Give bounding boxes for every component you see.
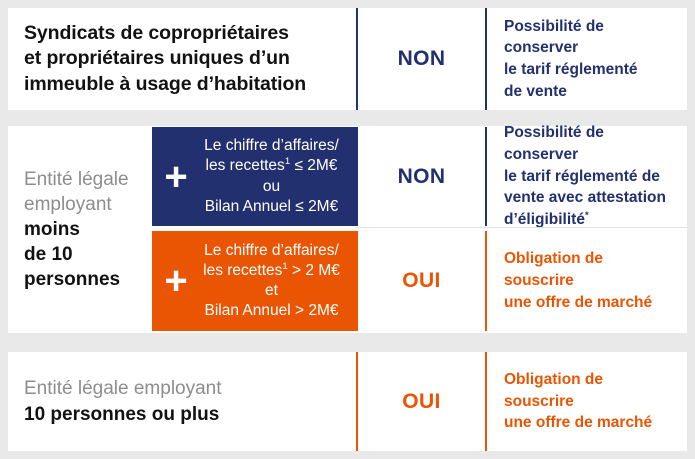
table-row: Syndicats de copropriétaires et propriét…: [8, 8, 687, 110]
table-row: Entité légale employant 10 personnes ou …: [8, 352, 687, 451]
answer-badge: NON: [398, 47, 446, 71]
criteria-line-5: personnes: [24, 267, 154, 292]
criteria-line-1: Entité légale: [24, 167, 154, 192]
plus-icon: +: [159, 163, 193, 191]
condition-line-1: Le chiffre d’affaires/: [193, 136, 350, 156]
consequence-line-4-a: d’éligibilité: [504, 211, 585, 228]
consequence-line-3: de vente: [504, 81, 677, 103]
condition-line-2: les recettes1 > 2 M€: [193, 261, 350, 281]
condition-line-2: les recettes1 ≤ 2M€: [193, 156, 350, 176]
criteria-cell: Entité légale employant moins de 10 pers…: [24, 126, 154, 333]
criteria-label-light: Entité légale employant: [24, 167, 154, 217]
consequence-text: Possibilité de conserver le tarif réglem…: [504, 16, 677, 103]
consequence-line-2: le tarif réglementé de: [504, 166, 677, 188]
consequence-line-2: une offre de marché: [504, 292, 677, 314]
criteria-line-1: Entité légale employant: [24, 376, 348, 401]
consequence-cell: Obligation de souscrire une offre de mar…: [485, 352, 687, 451]
criteria-text: Syndicats de copropriétaires et propriét…: [24, 21, 306, 97]
consequence-line-2: une offre de marché: [504, 412, 677, 434]
criteria-label-light: Entité légale employant: [24, 376, 348, 401]
criteria-label-bold: moins de 10 personnes: [24, 217, 154, 292]
criteria-line-3: moins: [24, 217, 154, 242]
criteria-line-4: de 10: [24, 242, 154, 267]
answer-badge: OUI: [402, 390, 441, 414]
criteria-cell: Syndicats de copropriétaires et propriét…: [8, 8, 356, 110]
answer-badge: OUI: [402, 269, 441, 293]
condition-block-navy: + Le chiffre d’affaires/ les recettes1 ≤…: [152, 127, 356, 226]
answer-cell: OUI: [356, 352, 485, 451]
row-divider: [356, 227, 687, 228]
condition-text: Le chiffre d’affaires/ les recettes1 > 2…: [193, 241, 356, 322]
consequence-line-1: Obligation de souscrire: [504, 369, 677, 412]
condition-line-2-a: les recettes: [206, 157, 285, 174]
condition-line-4: Bilan Annuel > 2M€: [193, 301, 350, 321]
consequence-line-1: Possibilité de conserver: [504, 122, 677, 165]
consequence-line-2: le tarif réglementé: [504, 59, 677, 81]
condition-line-2-a: les recettes: [203, 262, 282, 279]
consequence-line-1: Obligation de souscrire: [504, 248, 677, 291]
condition-stack: + Le chiffre d’affaires/ les recettes1 ≤…: [152, 126, 356, 333]
consequence-cell: Obligation de souscrire une offre de mar…: [485, 231, 687, 331]
condition-line-1: Le chiffre d’affaires/: [193, 241, 350, 261]
condition-block-orange: + Le chiffre d’affaires/ les recettes1 >…: [152, 231, 356, 331]
answer-badge: NON: [398, 165, 446, 189]
eligibility-infographic: Syndicats de copropriétaires et propriét…: [0, 0, 695, 459]
consequence-line-1: Possibilité de conserver: [504, 16, 677, 59]
condition-line-2-b: > 2 M€: [288, 262, 340, 279]
condition-line-4: Bilan Annuel ≤ 2M€: [193, 197, 350, 217]
condition-line-2-b: ≤ 2M€: [290, 157, 337, 174]
answer-cell: OUI: [356, 231, 485, 331]
consequence-text: Obligation de souscrire une offre de mar…: [504, 369, 677, 434]
answer-cell: NON: [356, 127, 485, 226]
condition-line-3: et: [193, 281, 350, 301]
plus-icon: +: [159, 267, 193, 295]
consequence-text: Obligation de souscrire une offre de mar…: [504, 248, 677, 313]
table-row: Entité légale employant moins de 10 pers…: [8, 126, 687, 333]
consequence-cell: Possibilité de conserver le tarif réglem…: [485, 127, 687, 226]
consequence-line-3: vente avec attestation: [504, 187, 677, 209]
consequence-text: Possibilité de conserver le tarif réglem…: [504, 122, 677, 230]
consequence-cell: Possibilité de conserver le tarif réglem…: [485, 8, 687, 110]
criteria-label-bold: 10 personnes ou plus: [24, 402, 348, 427]
footnote-marker: *: [585, 210, 589, 221]
condition-line-3: ou: [193, 177, 350, 197]
condition-text: Le chiffre d’affaires/ les recettes1 ≤ 2…: [193, 136, 356, 217]
criteria-line-1: Syndicats de copropriétaires: [24, 21, 306, 46]
criteria-line-2: 10 personnes ou plus: [24, 402, 348, 427]
criteria-line-3: immeuble à usage d’habitation: [24, 72, 306, 97]
criteria-cell: Entité légale employant 10 personnes ou …: [8, 352, 356, 451]
criteria-line-2: employant: [24, 192, 154, 217]
answer-cell: NON: [356, 8, 485, 110]
criteria-line-2: et propriétaires uniques d’un: [24, 46, 306, 71]
